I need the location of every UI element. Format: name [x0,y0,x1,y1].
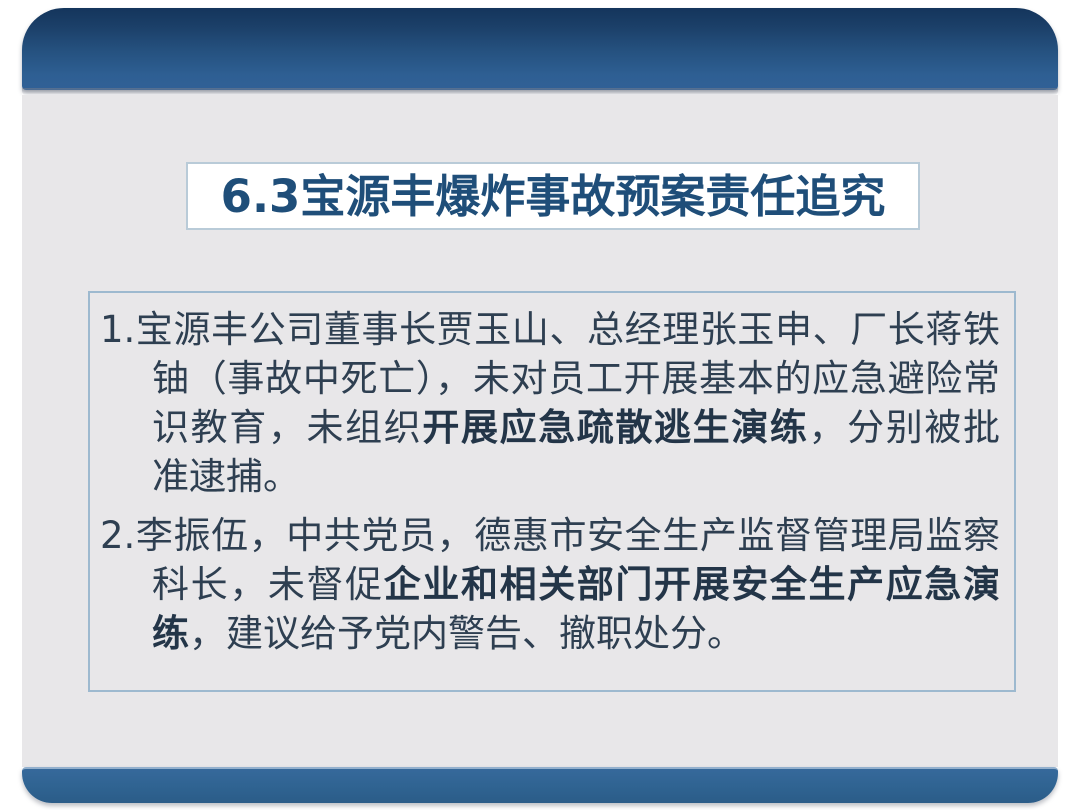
list-item-marker: 2. [100,514,135,557]
decorative-header-bar [22,8,1058,90]
header-bar-shadow [22,88,1058,95]
list-item-marker: 1. [100,308,135,351]
list-item: 1.宝源丰公司董事长贾玉山、总经理张玉申、厂长蒋铁铀（事故中死亡），未对员工开展… [100,305,1000,501]
numbered-list: 1.宝源丰公司董事长贾玉山、总经理张玉申、厂长蒋铁铀（事故中死亡），未对员工开展… [100,305,1000,658]
page-title: 6.3宝源丰爆炸事故预案责任追究 [221,174,886,219]
list-item: 2.李振伍，中共党员，德惠市安全生产监督管理局监察科长，未督促企业和相关部门开展… [100,511,1000,658]
decorative-footer-bar [22,767,1058,803]
title-box: 6.3宝源丰爆炸事故预案责任追究 [186,162,920,230]
body-text: ，建议给予党内警告、撤职处分。 [189,612,744,655]
emphasis-text: 开展应急疏散逃生演练 [422,406,808,449]
content-box: 1.宝源丰公司董事长贾玉山、总经理张玉申、厂长蒋铁铀（事故中死亡），未对员工开展… [88,291,1016,692]
slide: 6.3宝源丰爆炸事故预案责任追究 1.宝源丰公司董事长贾玉山、总经理张玉申、厂长… [0,0,1080,810]
